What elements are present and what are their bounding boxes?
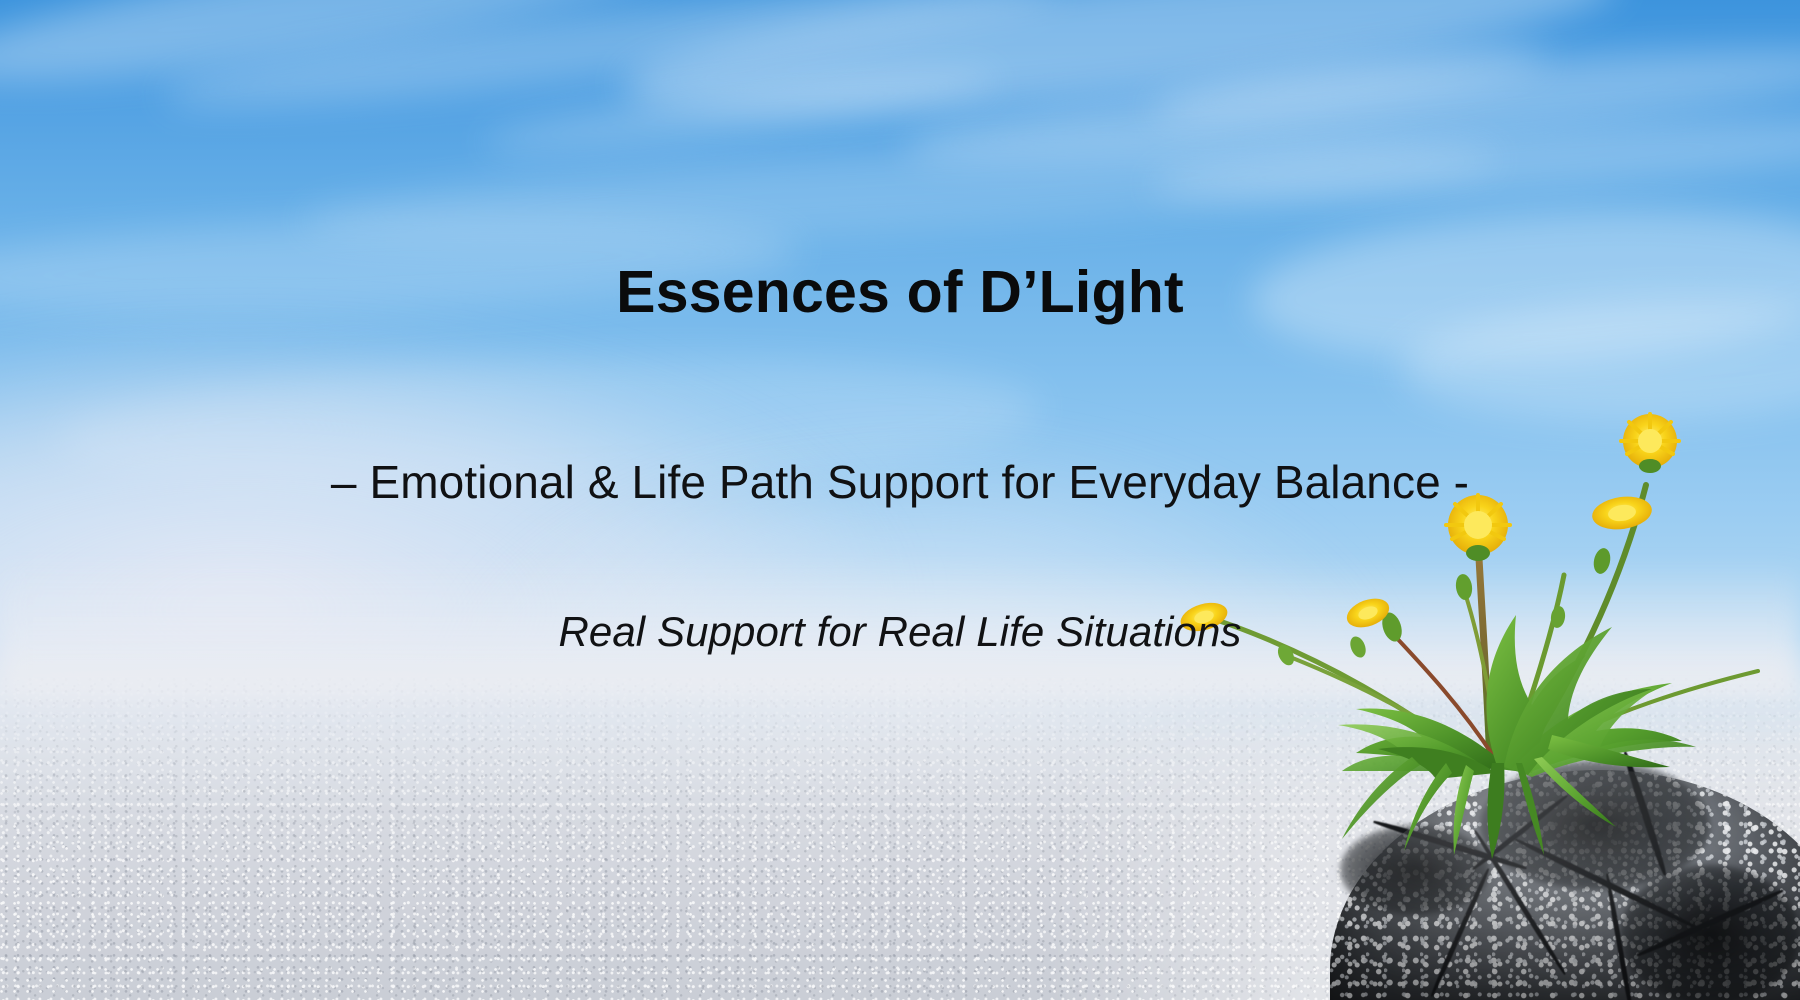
mound-body <box>1330 770 1800 1000</box>
mound-shading <box>1330 770 1800 1000</box>
dandelion-plant-icon <box>1160 365 1800 785</box>
hero-banner: Essences of D’Light – Emotional & Life P… <box>0 0 1800 1000</box>
banner-subtitle: – Emotional & Life Path Support for Ever… <box>0 455 1800 509</box>
page-title: Essences of D’Light <box>0 262 1800 324</box>
banner-tagline: Real Support for Real Life Situations <box>0 608 1800 656</box>
